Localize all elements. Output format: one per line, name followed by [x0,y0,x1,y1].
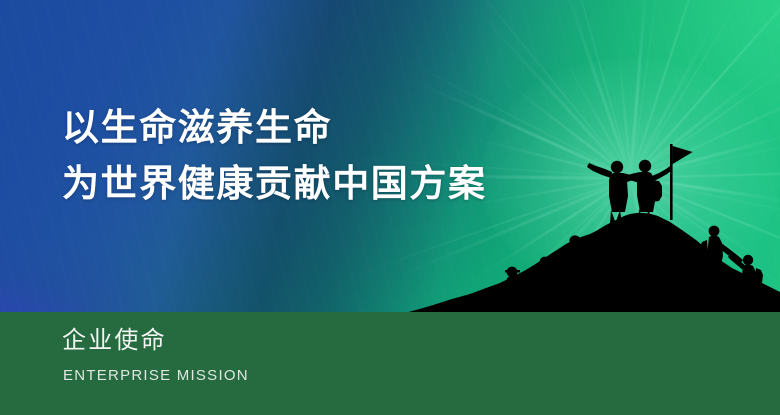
footer-bar: 企业使命 ENTERPRISE MISSION [0,312,780,415]
headline-block: 以生命滋养生命 为世界健康贡献中国方案 [62,100,487,212]
footer-title-cn: 企业使命 [62,329,167,353]
headline-line-2: 为世界健康贡献中国方案 [62,156,487,212]
enterprise-mission-banner: 以生命滋养生命 为世界健康贡献中国方案 [0,0,780,415]
footer-title-en: ENTERPRISE MISSION [63,368,249,383]
headline-line-1: 以生命滋养生命 [62,100,487,156]
